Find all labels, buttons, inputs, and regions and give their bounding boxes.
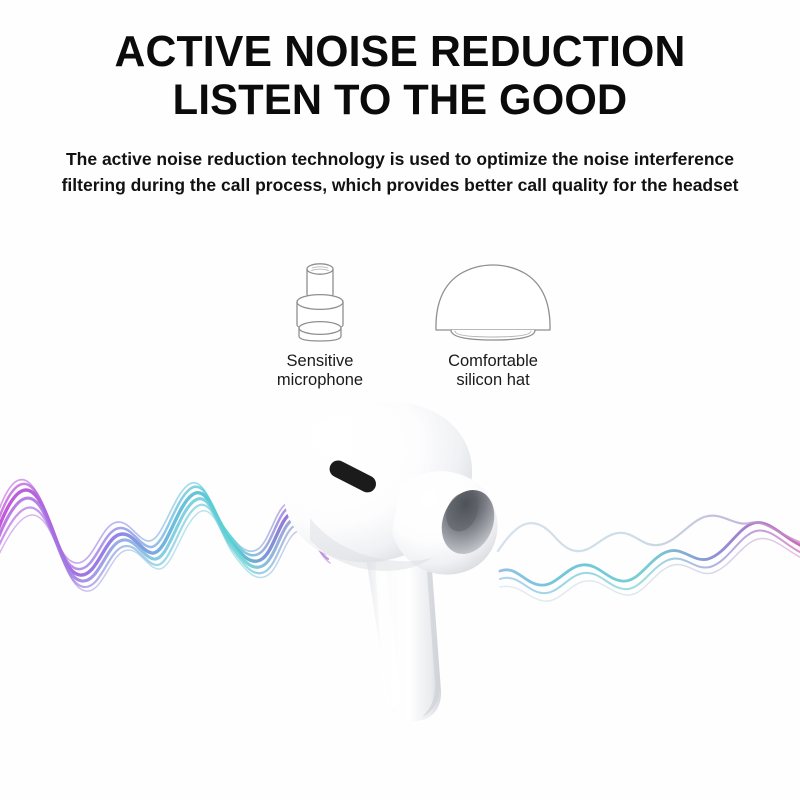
- product-banner: ACTIVE NOISE REDUCTION LISTEN TO THE GOO…: [0, 0, 800, 800]
- headline-line-2: LISTEN TO THE GOOD: [12, 76, 788, 124]
- feature-row: Sensitive microphone Comfortable silicon…: [0, 250, 800, 395]
- headline-line-1: ACTIVE NOISE REDUCTION: [12, 28, 788, 76]
- earbud-body: [261, 390, 497, 588]
- wireless-earbud-image: [250, 390, 550, 740]
- microphone-capsule-icon: [235, 250, 405, 346]
- silicone-ear-tip-icon: [408, 250, 578, 346]
- feature-comfortable-silicon-hat: Comfortable silicon hat: [408, 250, 578, 390]
- feature-label-silicon-hat: Comfortable silicon hat: [408, 352, 578, 390]
- feature-sensitive-microphone: Sensitive microphone: [235, 250, 405, 390]
- feature-label-microphone: Sensitive microphone: [235, 352, 405, 390]
- headline-block: ACTIVE NOISE REDUCTION LISTEN TO THE GOO…: [0, 28, 800, 124]
- description-paragraph: The active noise reduction technology is…: [34, 146, 766, 198]
